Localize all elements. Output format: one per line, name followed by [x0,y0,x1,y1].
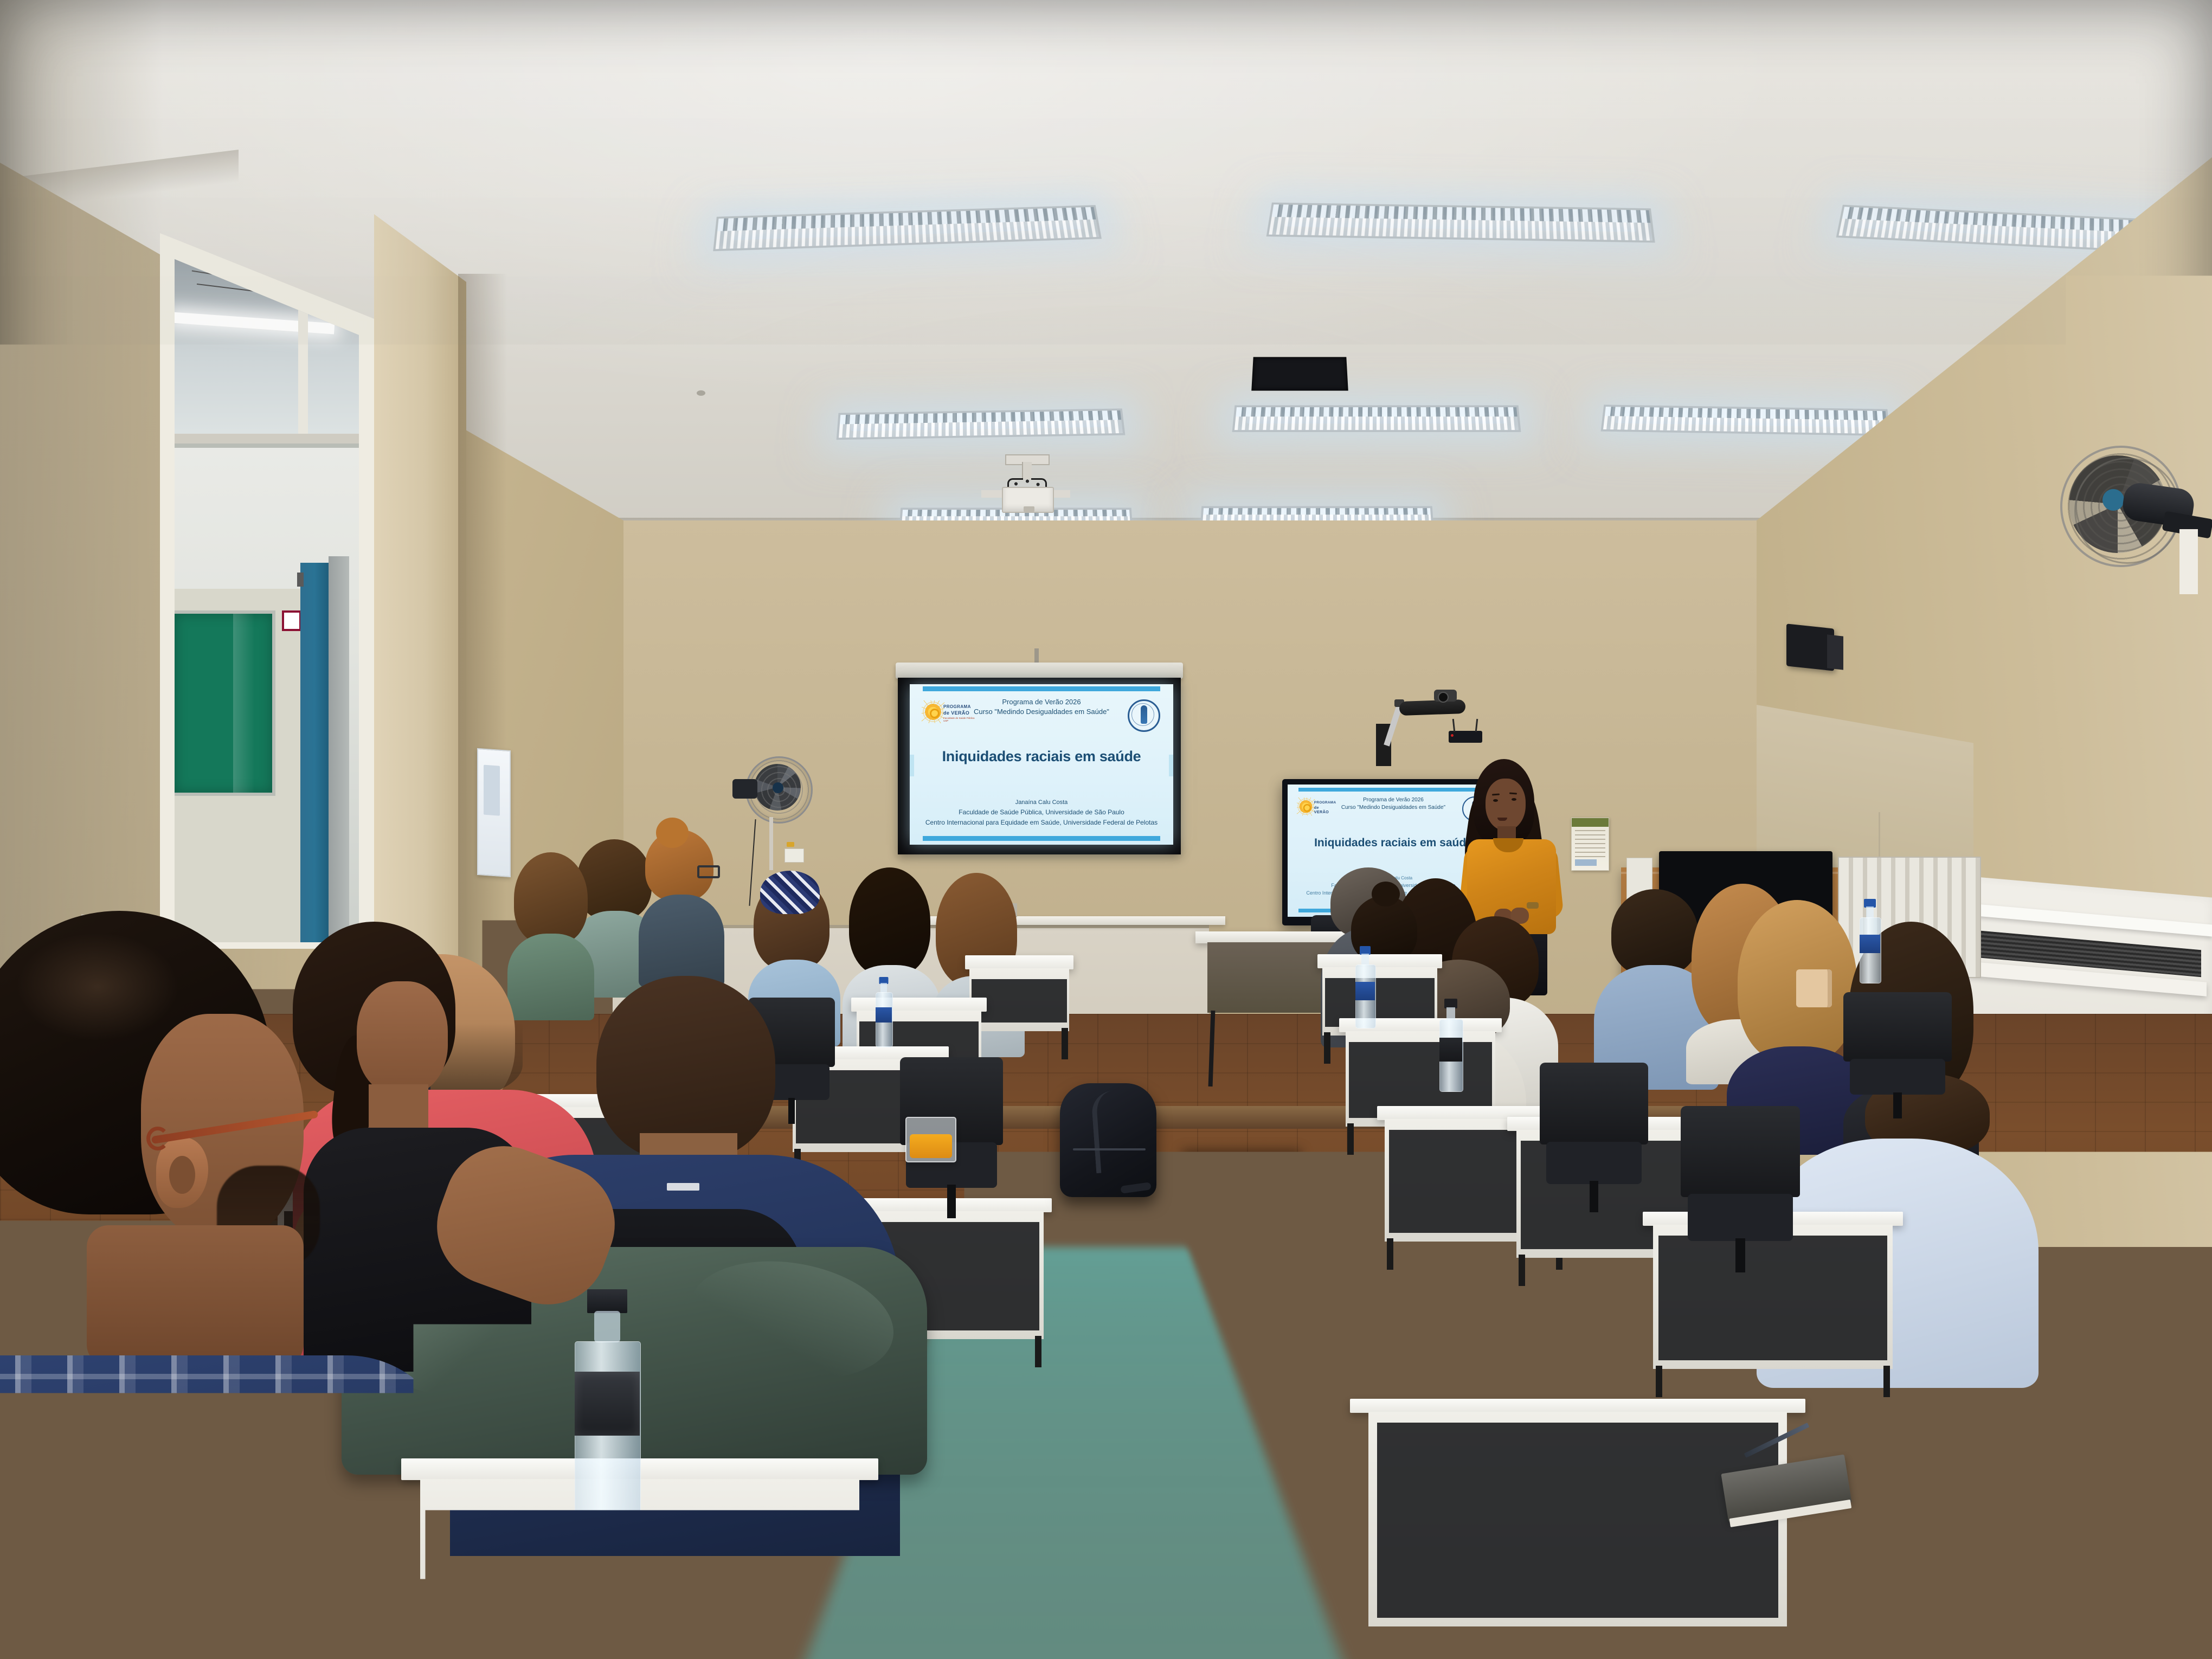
screen-roller-casing[interactable] [896,663,1183,679]
wristwatch-icon [1527,902,1539,909]
light-switch-plate[interactable] [477,748,511,877]
classroom-photograph: PROGRAMA de VERÃO Faculdade de Saúde Púb… [0,0,2212,1659]
head [596,976,775,1160]
ceiling-sensor-icon [697,390,705,396]
pilaster-shadow [458,274,507,1022]
wall-speaker-bracket [1827,634,1843,670]
blue-door[interactable] [300,563,329,942]
shirt-tag-icon [667,1183,699,1191]
exit-sign-icon [282,610,301,631]
classroom-chair[interactable] [1540,1063,1648,1204]
ceiling-vent-icon [1251,357,1348,391]
hair-bun [656,818,689,848]
glasses-icon [697,865,720,878]
hair-scrunchie [760,871,820,914]
presentation-slide: PROGRAMA de VERÃO Faculdade de Saúde Púb… [910,684,1173,845]
presenter-face [1486,779,1526,831]
water-bottle [1355,946,1375,1027]
wall-poster [1571,818,1609,871]
backpack [1060,1083,1156,1197]
ceiling-light-fixture [1232,406,1521,432]
ceiling-light-fixture [1266,203,1655,243]
door-jamb [329,556,349,942]
audience-member [640,829,721,981]
slide-title: Iniquidades raciais em saúde [910,748,1173,765]
snack-container [905,1117,956,1162]
ceiling-light-fixture [837,408,1126,440]
wireless-router [1449,731,1482,743]
doorway-opening[interactable] [175,259,359,942]
corridor-beyond [175,448,359,942]
jersey-text-tertiary: IA [2068,1586,2117,1641]
green-bulletin-board [175,610,275,796]
wall-outlet-icon[interactable] [785,848,804,863]
water-bottle [575,1289,640,1522]
wall-mounted-fan[interactable] [2001,434,2212,596]
projector-lens-icon [1024,506,1034,512]
ceiling-light-fixture [1601,404,1890,436]
wall-pilaster [374,214,466,1017]
pedestal-fan[interactable] [745,756,816,870]
projector [993,454,1058,515]
camera-lens-icon [1438,692,1449,703]
hand [2093,1252,2196,1361]
slide-header: Programa de Verão 2026 Curso "Medindo De… [910,697,1173,716]
water-bottle [1860,899,1880,983]
slide-author-block: Janaína Calu Costa Faculdade de Saúde Pú… [910,799,1173,826]
door-hinge-icon [297,573,304,587]
foreground-person-jersey: despegar BO IA W [1643,1084,2212,1659]
projection-screen: PROGRAMA de VERÃO Faculdade de Saúde Púb… [884,645,1198,862]
hair-clip [1796,969,1832,1007]
soundbar [1399,699,1466,716]
water-bottle [1439,999,1462,1091]
jersey-text-quaternary: W [1700,1548,1745,1602]
router-led-icon [1451,734,1454,737]
hair-bun [1372,882,1400,906]
